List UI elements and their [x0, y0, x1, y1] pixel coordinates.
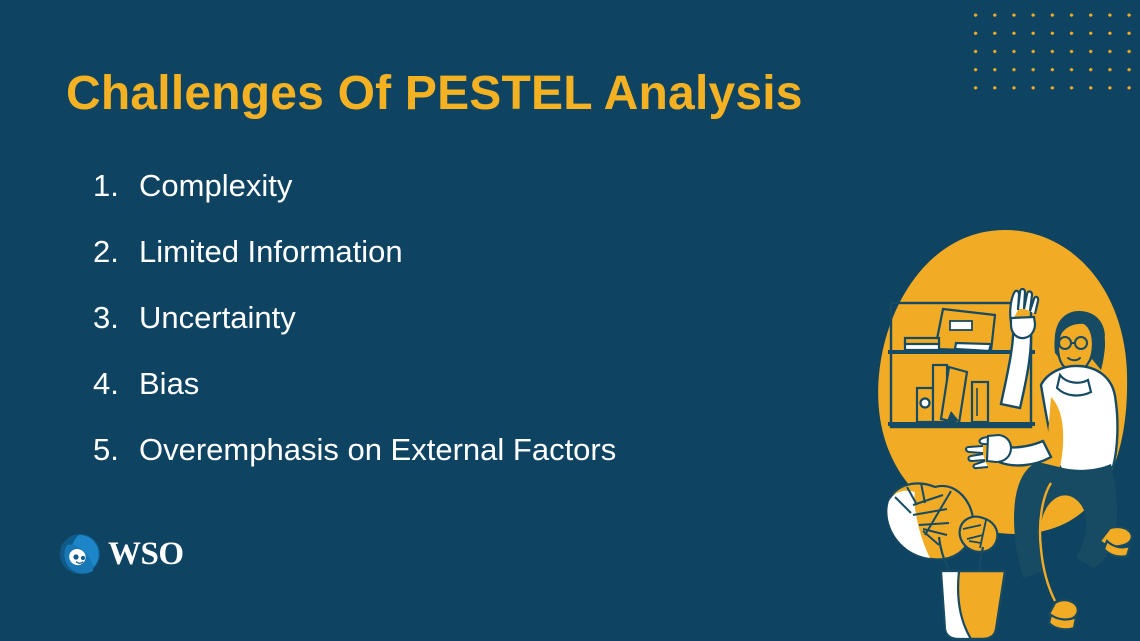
list-item-number: 2. — [93, 234, 139, 270]
list-item: 4. Bias — [93, 366, 793, 432]
list-item-label: Uncertainty — [139, 300, 296, 336]
dot-grid-pattern-icon — [962, 2, 1140, 94]
wso-logo[interactable]: WSO — [59, 533, 184, 575]
woman-reaching-bookshelf-illustration — [855, 225, 1140, 641]
list-item-number: 5. — [93, 432, 139, 468]
list-item-label: Bias — [139, 366, 199, 402]
list-item: 3. Uncertainty — [93, 300, 793, 366]
wso-wordmark: WSO — [108, 538, 184, 571]
challenges-list: 1. Complexity 2. Limited Information 3. … — [93, 168, 793, 498]
list-item-number: 4. — [93, 366, 139, 402]
list-item: 5. Overemphasis on External Factors — [93, 432, 793, 498]
list-item-label: Overemphasis on External Factors — [139, 432, 616, 468]
list-item-label: Limited Information — [139, 234, 403, 270]
page-title: Challenges Of PESTEL Analysis — [66, 66, 803, 121]
list-item-label: Complexity — [139, 168, 292, 204]
list-item-number: 3. — [93, 300, 139, 336]
list-item: 1. Complexity — [93, 168, 793, 234]
wso-monkey-circle-icon — [59, 533, 101, 575]
list-item: 2. Limited Information — [93, 234, 793, 300]
slide-canvas: Challenges Of PESTEL Analysis 1. Complex… — [0, 0, 1140, 641]
list-item-number: 1. — [93, 168, 139, 204]
